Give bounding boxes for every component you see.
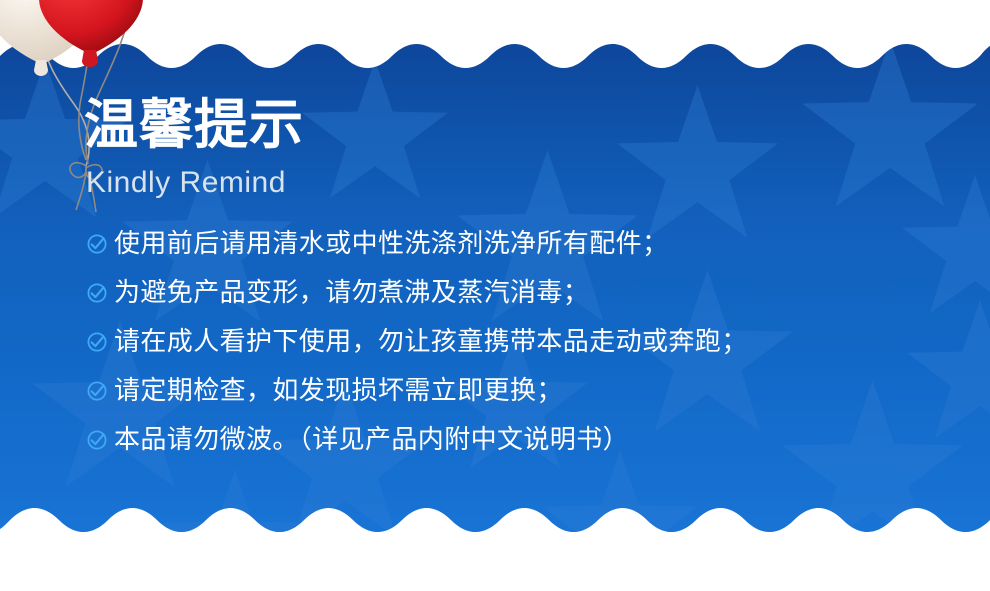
list-item-label: 使用前后请用清水或中性洗涤剂洗净所有配件； <box>114 228 668 258</box>
list-item: 为避免产品变形，请勿煮沸及蒸汽消毒； <box>86 267 966 316</box>
kindly-remind-banner: 温馨提示 Kindly Remind 使用前后请用清水或中性洗涤剂洗净所有配件； <box>0 0 990 591</box>
list-item-label: 本品请勿微波。（详见产品内附中文说明书） <box>114 424 629 454</box>
list-item: 使用前后请用清水或中性洗涤剂洗净所有配件； <box>86 218 966 267</box>
list-item-label: 为避免产品变形，请勿煮沸及蒸汽消毒； <box>114 277 589 307</box>
list-item: 请在成人看护下使用，勿让孩童携带本品走动或奔跑； <box>86 316 966 365</box>
list-item: 请定期检查，如发现损坏需立即更换； <box>86 365 966 414</box>
page-title-en: Kindly Remind <box>86 166 286 200</box>
check-circle-icon <box>86 233 108 255</box>
banner-content: 温馨提示 Kindly Remind 使用前后请用清水或中性洗涤剂洗净所有配件； <box>0 0 990 591</box>
check-circle-icon <box>86 282 108 304</box>
check-circle-icon <box>86 331 108 353</box>
reminder-list: 使用前后请用清水或中性洗涤剂洗净所有配件； 为避免产品变形，请勿煮沸及蒸汽消毒； <box>86 218 966 463</box>
list-item-label: 请在成人看护下使用，勿让孩童携带本品走动或奔跑； <box>114 326 748 356</box>
check-circle-icon <box>86 429 108 451</box>
page-title-cn: 温馨提示 <box>84 96 304 154</box>
list-item-label: 请定期检查，如发现损坏需立即更换； <box>114 375 563 405</box>
list-item: 本品请勿微波。（详见产品内附中文说明书） <box>86 414 966 463</box>
check-circle-icon <box>86 380 108 402</box>
